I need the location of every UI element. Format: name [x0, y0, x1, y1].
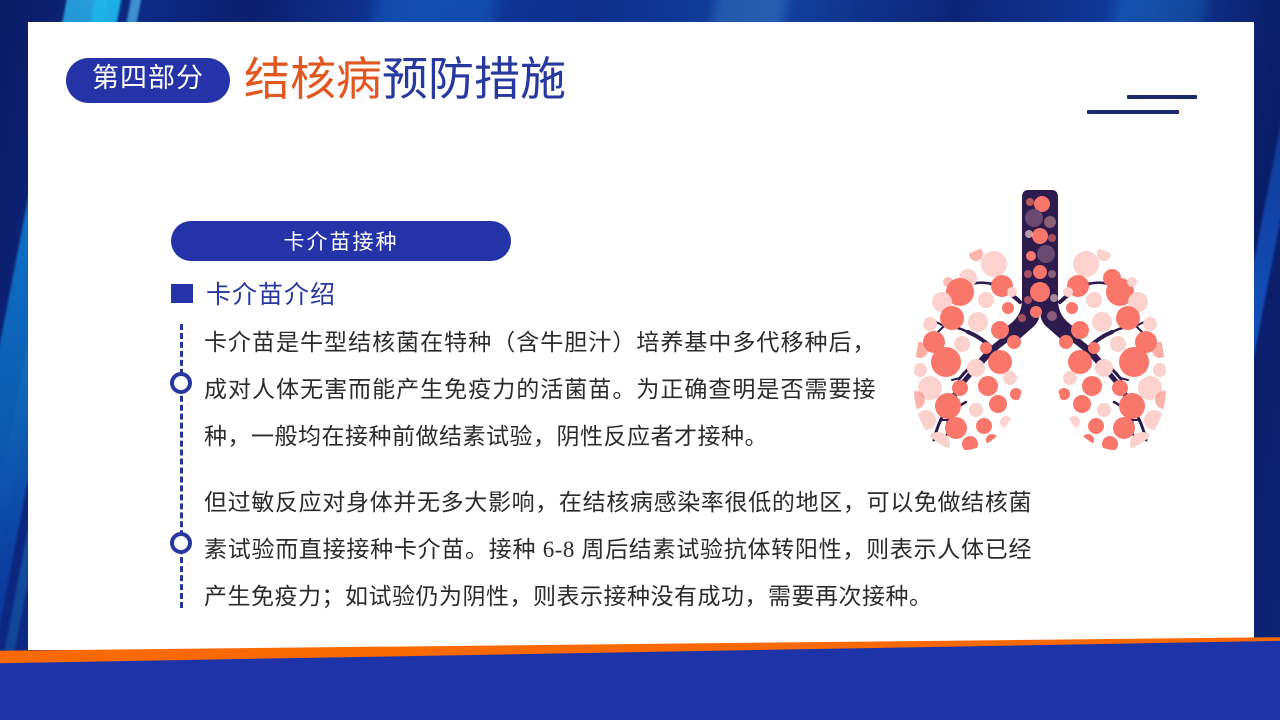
- body-paragraph-1: 卡介苗是牛型结核菌在特种（含牛胆汁）培养基中多代移种后，成对人体无害而能产生免疫…: [204, 319, 876, 460]
- alveoli-dots-right: [1057, 247, 1173, 456]
- content-card: 第四部分 结核病预防措施 卡介苗接种 卡介苗介绍 卡介苗是牛型结核菌在特种（含牛…: [28, 22, 1254, 650]
- subheading: 卡介苗介绍: [171, 275, 336, 311]
- page-title-rest: 预防措施: [382, 54, 566, 105]
- lungs-illustration: [890, 182, 1190, 472]
- rule-line-bottom: [1087, 110, 1179, 114]
- timeline-ring-icon: [170, 532, 192, 554]
- lungs-svg: [890, 182, 1190, 472]
- alveoli-dots-left: [907, 247, 1023, 456]
- part-badge: 第四部分: [66, 58, 230, 103]
- subheading-label: 卡介苗介绍: [206, 275, 336, 311]
- header-rule-decor: [1087, 95, 1197, 114]
- rule-line-top: [1127, 95, 1197, 99]
- square-bullet-icon: [171, 284, 193, 303]
- page-title-highlight: 结核病: [244, 54, 382, 105]
- page-title: 结核病预防措施: [244, 57, 566, 103]
- timeline-rail: [180, 324, 183, 608]
- body-paragraph-2: 但过敏反应对身体并无多大影响，在结核病感染率很低的地区，可以免做结核菌素试验而直…: [204, 479, 1032, 620]
- section-pill: 卡介苗接种: [171, 221, 511, 261]
- timeline-ring-icon: [170, 372, 192, 394]
- slide-root: 第四部分 结核病预防措施 卡介苗接种 卡介苗介绍 卡介苗是牛型结核菌在特种（含牛…: [0, 0, 1280, 720]
- slide-header: 第四部分 结核病预防措施: [66, 57, 566, 103]
